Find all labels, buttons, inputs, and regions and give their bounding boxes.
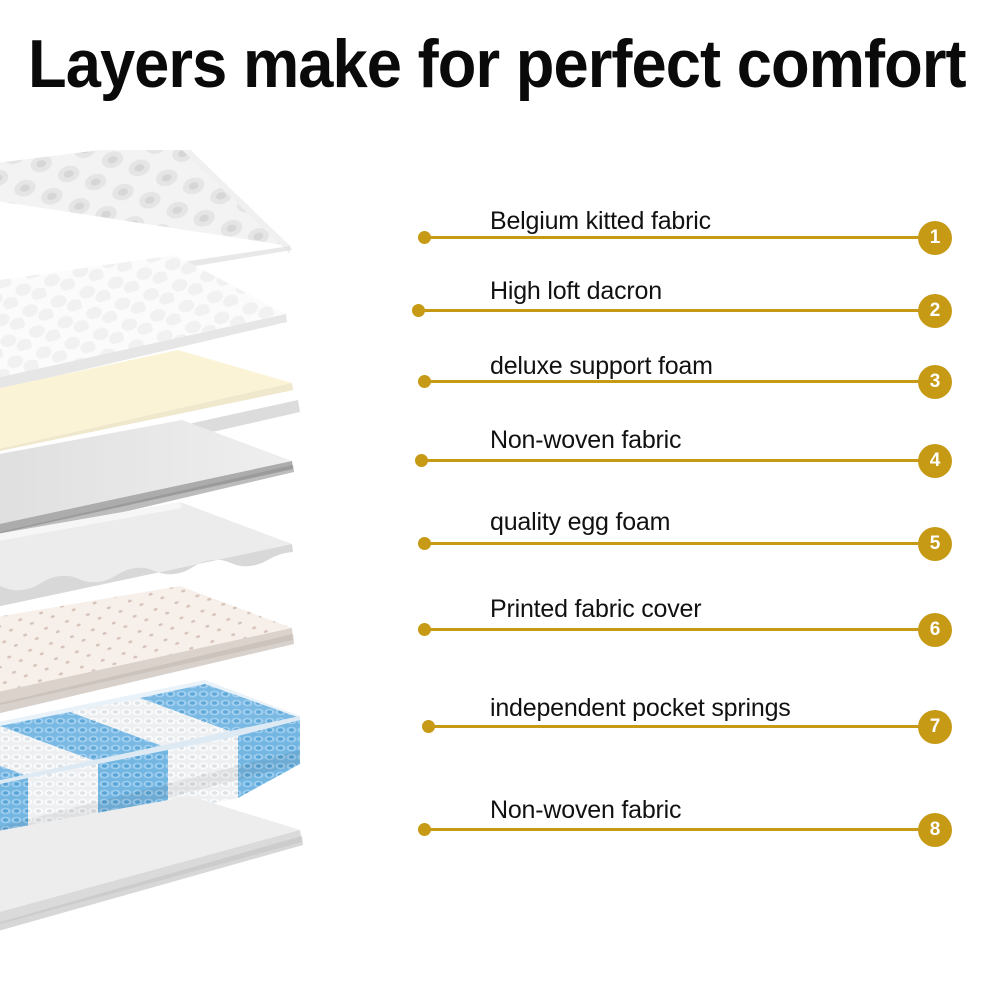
callout-label-2: High loft dacron xyxy=(490,277,662,306)
callout-label-4: Non-woven fabric xyxy=(490,426,681,455)
callout-leader-line-8 xyxy=(424,828,922,831)
callout-anchor-dot-2 xyxy=(412,304,425,317)
callout-label-7: independent pocket springs xyxy=(490,694,791,723)
callout-anchor-dot-5 xyxy=(418,537,431,550)
infographic-canvas: Layers make for perfect comfort xyxy=(0,0,1000,1000)
mattress-layer-illustration xyxy=(0,150,480,980)
callout-number-badge-1[interactable]: 1 xyxy=(918,221,952,255)
callout-number-badge-3[interactable]: 3 xyxy=(918,365,952,399)
callout-label-6: Printed fabric cover xyxy=(490,595,701,624)
callout-label-3: deluxe support foam xyxy=(490,352,713,381)
callout-number-badge-2[interactable]: 2 xyxy=(918,294,952,328)
callout-label-5: quality egg foam xyxy=(490,508,670,537)
callout-anchor-dot-1 xyxy=(418,231,431,244)
callout-anchor-dot-8 xyxy=(418,823,431,836)
callout-number-badge-5[interactable]: 5 xyxy=(918,527,952,561)
callout-number-badge-4[interactable]: 4 xyxy=(918,444,952,478)
callout-leader-line-2 xyxy=(418,309,922,312)
callout-label-1: Belgium kitted fabric xyxy=(490,207,711,236)
callout-number-badge-7[interactable]: 7 xyxy=(918,710,952,744)
callout-leader-line-1 xyxy=(424,236,922,239)
callout-leader-line-5 xyxy=(424,542,922,545)
callout-number-badge-8[interactable]: 8 xyxy=(918,813,952,847)
callout-anchor-dot-7 xyxy=(422,720,435,733)
callout-number-badge-6[interactable]: 6 xyxy=(918,613,952,647)
callout-anchor-dot-3 xyxy=(418,375,431,388)
callout-anchor-dot-6 xyxy=(418,623,431,636)
callout-leader-line-4 xyxy=(421,459,922,462)
callout-label-8: Non-woven fabric xyxy=(490,796,681,825)
callout-leader-line-7 xyxy=(428,725,922,728)
page-title: Layers make for perfect comfort xyxy=(28,28,912,100)
callout-anchor-dot-4 xyxy=(415,454,428,467)
callout-leader-line-6 xyxy=(424,628,922,631)
